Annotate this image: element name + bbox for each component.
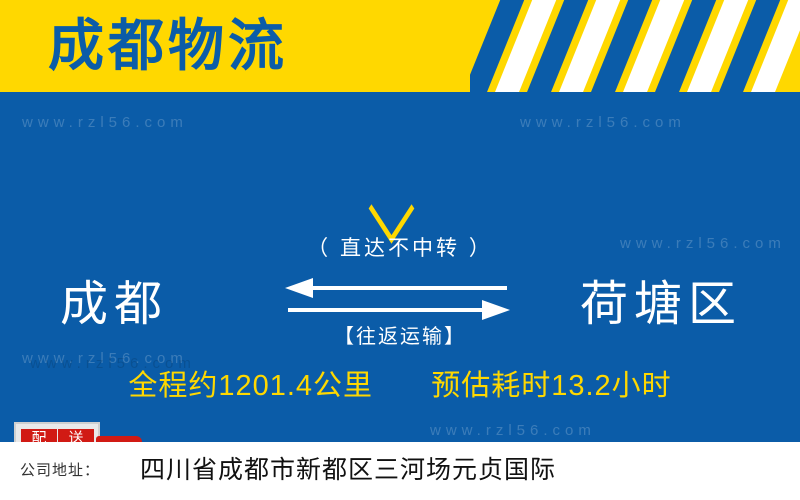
- header-stripes: [470, 0, 800, 92]
- arrow-line-bottom: [288, 308, 484, 312]
- duration-text: 预估耗时13.2小时: [431, 370, 671, 402]
- arrow-head-left: [285, 278, 313, 298]
- two-way-arrow-icon: [285, 278, 510, 324]
- route-stats: 全程约1201.4公里 预估耗时13.2小时: [0, 362, 800, 404]
- footer-address-label: 公司地址：: [20, 459, 100, 480]
- watermark-2: www.rzl56.com: [520, 114, 686, 131]
- chevron-down-icon: [365, 188, 435, 214]
- watermark-1: www.rzl56.com: [22, 114, 188, 131]
- page-title: 成都物流: [48, 6, 288, 86]
- round-trip-note: 【往返运输】: [0, 320, 800, 349]
- arrow-head-right: [482, 300, 510, 320]
- watermark-5: www.rzl56.com: [430, 422, 596, 439]
- header-band: 成都物流: [0, 0, 800, 92]
- footer-address-value: 四川省成都市新都区三河场元贞国际: [140, 450, 556, 486]
- footer-band: 公司地址： 四川省成都市新都区三河场元贞国际: [0, 442, 800, 500]
- distance-text: 全程约1201.4公里: [128, 370, 373, 402]
- direct-note: （ 直达不中转 ）: [0, 232, 800, 262]
- body-area: （ 直达不中转 ） 成都 荷塘区 【往返运输】 全程约1201.4公里 预估耗时…: [0, 92, 800, 442]
- logistics-banner: 成都物流 （ 直达不中转 ） 成都 荷塘区 【往返运输】 全程约1201.: [0, 0, 800, 500]
- arrow-line-top: [311, 286, 507, 290]
